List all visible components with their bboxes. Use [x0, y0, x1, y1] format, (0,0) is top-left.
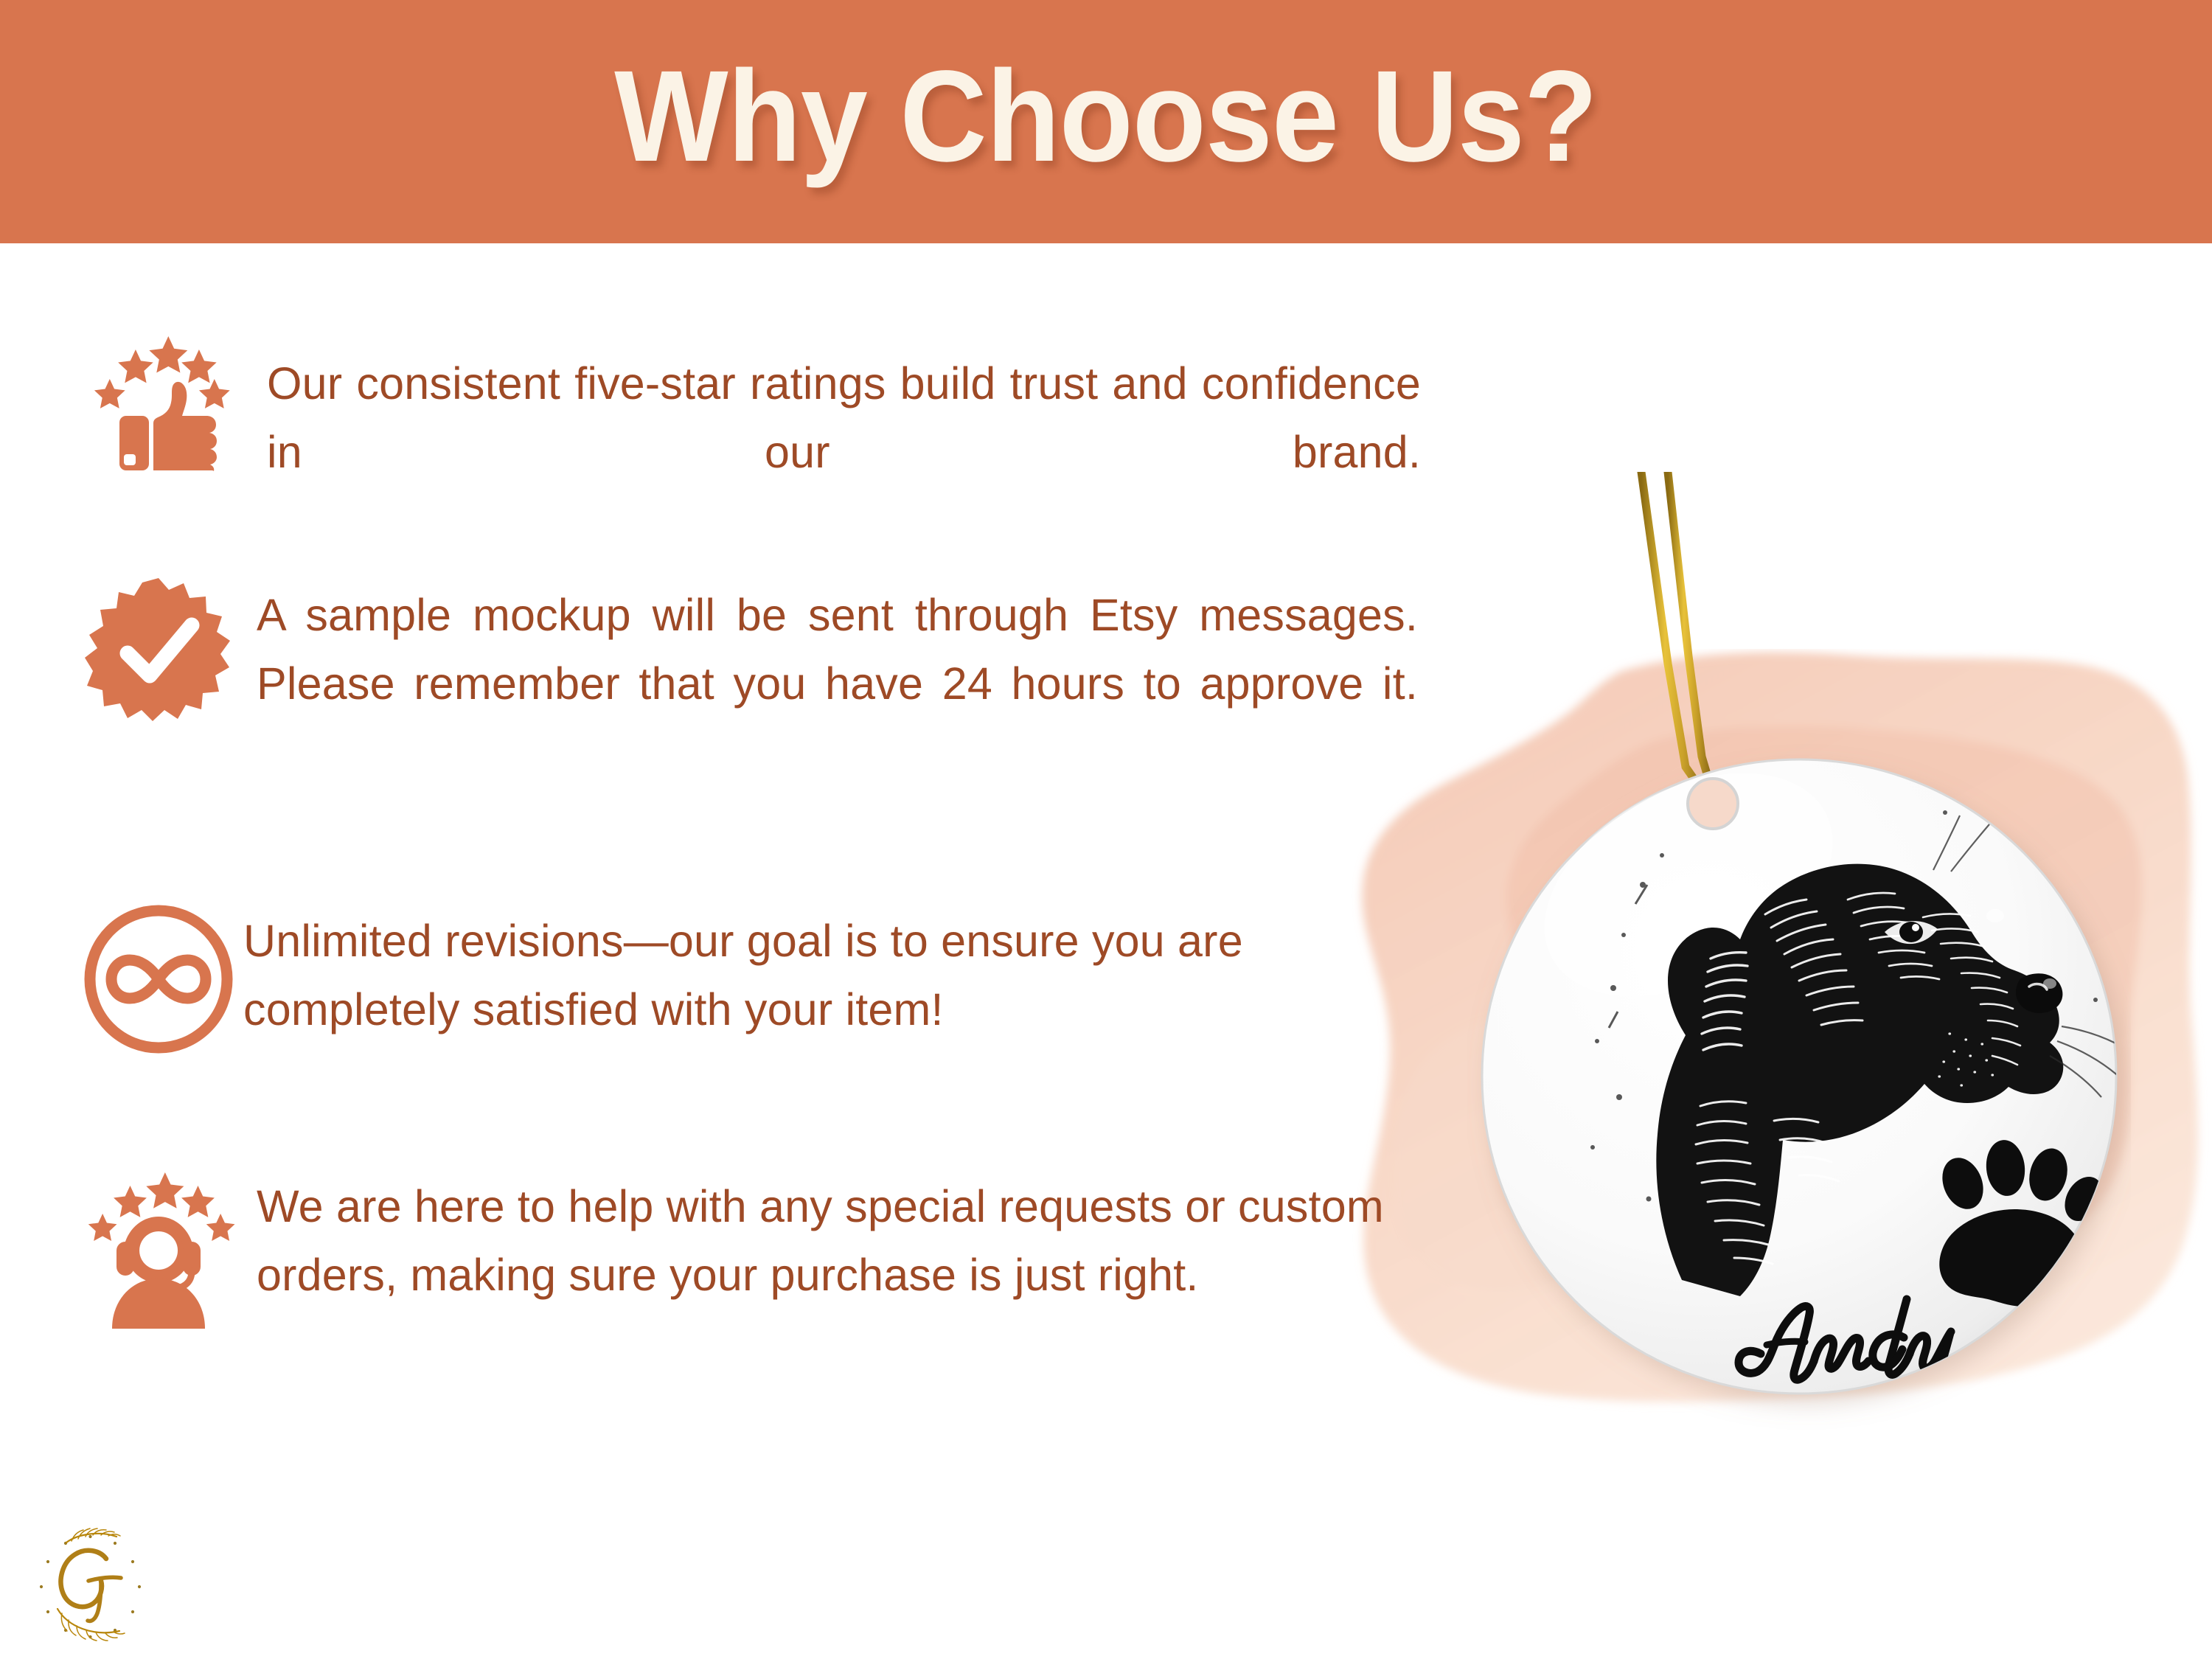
feature-text: Our consistent five-star ratings build t… [267, 333, 1421, 554]
brand-monogram-letter: G [90, 1596, 91, 1598]
verified-badge-check-icon [66, 577, 251, 724]
infinity-circle-icon [66, 901, 251, 1057]
feature-text: A sample mockup will be sent through Ets… [257, 577, 1418, 786]
feature-item: Our consistent five-star ratings build t… [66, 333, 1421, 554]
feature-item: Unlimited revisions—our goal is to ensur… [66, 901, 1427, 1112]
five-star-thumbs-up-icon [66, 333, 251, 473]
brand-logo: G [29, 1526, 151, 1648]
page-title: Why Choose Us? [615, 52, 1598, 192]
feature-item: A sample mockup will be sent through Ets… [66, 577, 1418, 786]
customer-support-agent-stars-icon [66, 1172, 251, 1329]
dog-nose [2016, 973, 2062, 1013]
product-ornament-image [1467, 472, 2131, 1445]
gold-hanging-cord [1641, 472, 1714, 801]
feature-text: Unlimited revisions—our goal is to ensur… [243, 901, 1427, 1112]
feature-text: We are here to help with any special req… [257, 1172, 1418, 1377]
page-header-band: Why Choose Us? [0, 0, 2212, 243]
feature-item: We are here to help with any special req… [66, 1172, 1418, 1377]
